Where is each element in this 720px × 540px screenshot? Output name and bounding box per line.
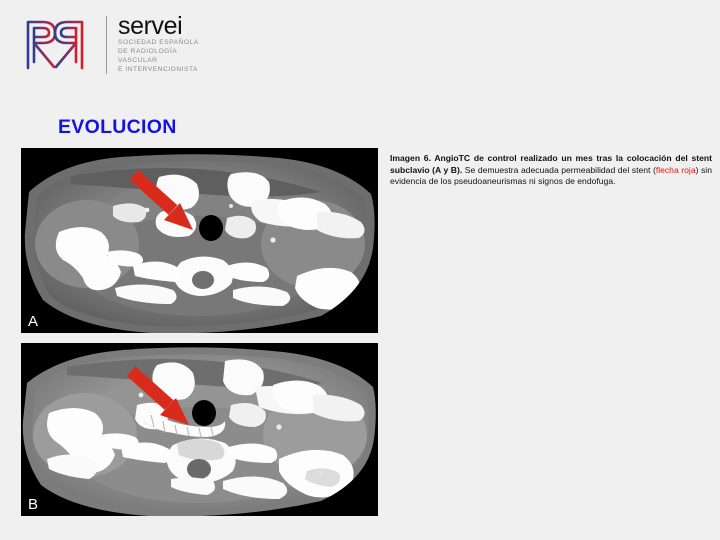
brand-subtitle-line-2: DE RADIOLOGÍA	[118, 47, 199, 56]
brand-subtitle-line-1: SOCIEDAD ESPAÑOLA	[118, 38, 199, 47]
ct-axial-slice-b	[21, 343, 378, 516]
brand-logo-block: servei SOCIEDAD ESPAÑOLA DE RADIOLOGÍA V…	[18, 12, 199, 74]
trachea	[192, 400, 216, 426]
brand-subtitle-line-4: E INTERVENCIONISTA	[118, 65, 199, 74]
brand-subtitle-line-3: VASCULAR	[118, 56, 199, 65]
ct-image-a: A	[21, 148, 378, 333]
spinal-canal	[187, 459, 211, 479]
caption-text-1: Se demuestra adecuada permeabilidad del …	[465, 165, 656, 175]
page-title: EVOLUCION	[58, 116, 177, 139]
figure-caption: Imagen 6. AngioTC de control realizado u…	[390, 153, 712, 188]
brand-name: servei	[118, 14, 199, 38]
trachea	[199, 215, 223, 241]
caption-highlight: flecha roja	[656, 165, 696, 175]
logo-wordmark: servei SOCIEDAD ESPAÑOLA DE RADIOLOGÍA V…	[118, 12, 199, 74]
servei-rr-monogram-icon	[18, 12, 92, 74]
panel-label-b: B	[28, 497, 38, 513]
ct-image-b: B	[21, 343, 378, 516]
spinal-canal	[192, 271, 214, 289]
panel-label-a: A	[28, 314, 38, 330]
ct-axial-slice-a	[21, 148, 378, 333]
logo-divider	[106, 16, 107, 74]
